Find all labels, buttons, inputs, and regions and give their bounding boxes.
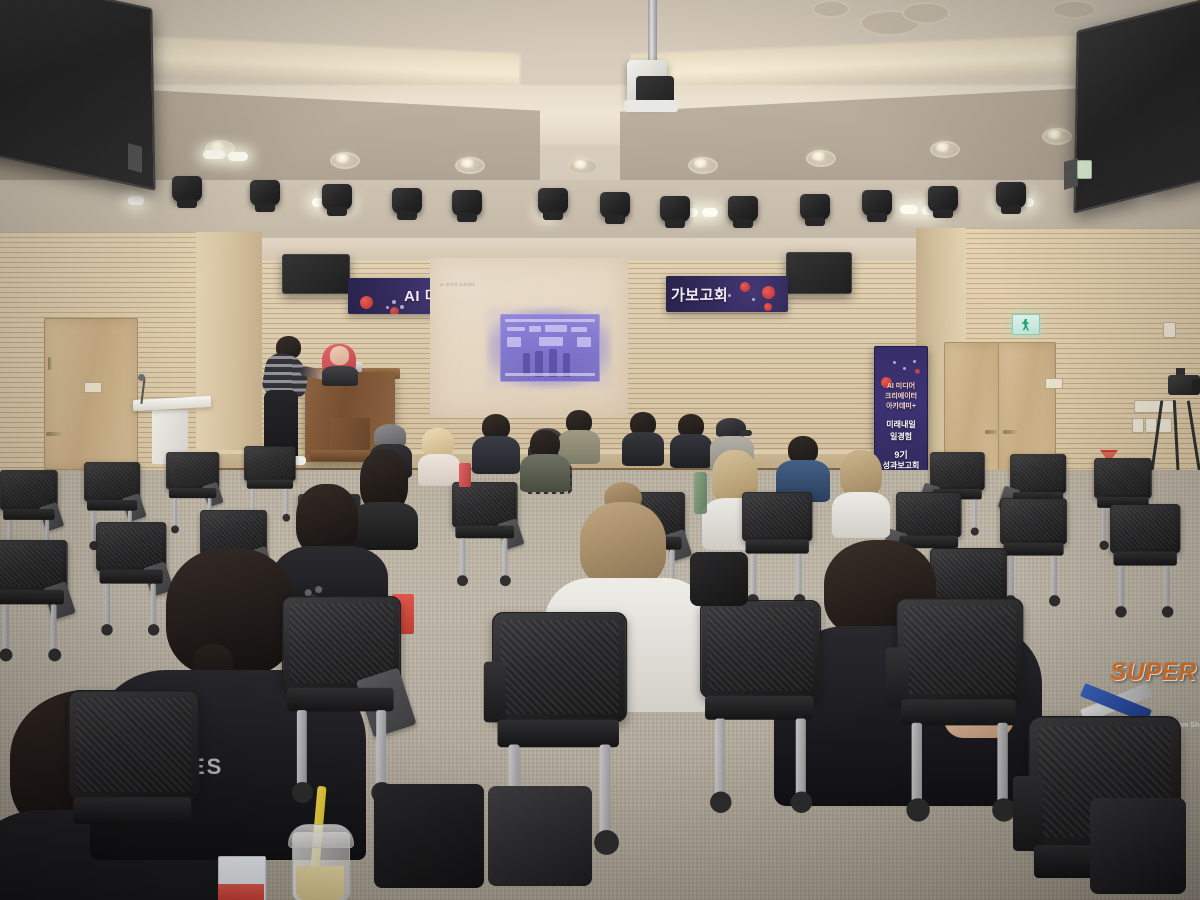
banner-dot <box>386 306 389 309</box>
ceiling-vent <box>812 0 850 18</box>
audience-torso <box>472 436 520 474</box>
rollup-dot <box>893 361 896 364</box>
door-handle-right-a[interactable] <box>985 430 1001 434</box>
audience-hair <box>580 502 666 588</box>
stage-light <box>250 180 280 206</box>
presenter-b-head <box>330 346 349 365</box>
rollup-line-2: 크리에이터 <box>875 391 927 401</box>
door-sign-right <box>1045 378 1063 389</box>
door-sign-left <box>84 382 102 393</box>
shirt-main-text: SUPER <box>1110 658 1196 687</box>
banner-right: 가보고회 <box>666 276 788 312</box>
banner-dot <box>752 298 755 301</box>
left-pillar <box>196 232 262 482</box>
slide-element <box>539 337 563 346</box>
screen-watermark: AI 미디어 아카데미 <box>440 282 475 288</box>
banner-dot <box>764 303 772 311</box>
slot-light <box>128 196 144 205</box>
backpack-floor-left <box>374 784 484 888</box>
stage-light <box>862 190 892 216</box>
cup-lid <box>288 824 354 848</box>
rollup-banner: AI 미디어 크리에이터 아카데미+ 미래내일 일경험 9기 성과보고회 <box>874 346 928 486</box>
door-hinge-left <box>48 357 52 370</box>
ceiling-tv-right <box>1073 0 1200 214</box>
stage-light <box>172 176 202 202</box>
stage-light <box>660 196 690 222</box>
left-door[interactable] <box>44 318 138 470</box>
wall-sensor <box>1163 322 1176 338</box>
audience-torso <box>520 454 570 492</box>
backpack-on-chair <box>690 552 748 606</box>
microphone-head <box>138 374 145 381</box>
slide-figure <box>523 353 530 375</box>
ceiling-vent <box>1052 0 1096 19</box>
downlight <box>573 160 589 169</box>
stage-light <box>322 184 352 210</box>
drink-can <box>459 463 471 487</box>
backpack-floor-right <box>1090 798 1186 894</box>
running-man-icon <box>1022 319 1031 331</box>
conference-hall-photo: AI 미디 가보고회 AI 미디어 크리에이터 아카데미+ 미래내일 일경험 9… <box>0 0 1200 900</box>
slide-element <box>507 337 521 347</box>
cap-brim <box>740 430 752 436</box>
water-bottle <box>694 472 707 514</box>
stage-light <box>392 188 422 214</box>
juice-carton-label <box>218 884 264 900</box>
tv-left-mount <box>128 143 142 172</box>
slide-element <box>529 326 541 332</box>
wall-switch-bank[interactable] <box>1134 400 1174 413</box>
rollup-line-1: AI 미디어 <box>875 381 927 391</box>
beanie-hat <box>374 424 406 446</box>
downlight <box>1047 130 1063 139</box>
slot-light <box>228 152 248 161</box>
audience-torso <box>352 502 418 550</box>
cup-beverage <box>296 866 344 900</box>
downlight <box>811 152 827 161</box>
downlight <box>693 159 709 168</box>
slide-element <box>577 337 591 347</box>
slide-element <box>545 325 567 332</box>
rollup-line-5: 일경험 <box>875 431 927 442</box>
exit-sign <box>1012 314 1040 335</box>
banner-dot <box>390 307 399 314</box>
stage-light <box>728 196 758 222</box>
wall-speaker-right <box>786 252 852 294</box>
banner-right-text: 가보고회 <box>671 284 728 305</box>
downlight <box>935 143 951 152</box>
presenter-b-torso <box>322 366 358 386</box>
slot-light <box>900 205 918 214</box>
audience-torso <box>418 454 460 486</box>
downlight <box>335 154 351 163</box>
banner-dot <box>728 294 731 297</box>
stage-light <box>538 188 568 214</box>
slot-light <box>702 208 718 217</box>
stage-light <box>600 192 630 218</box>
projector-bracket <box>624 100 678 112</box>
wall-outlet-a[interactable] <box>1132 418 1144 433</box>
projected-slide <box>500 314 600 382</box>
ceiling-speaker-grille <box>902 2 950 24</box>
rollup-line-4: 미래내일 <box>875 419 927 430</box>
tv-certification-badge <box>1077 160 1092 179</box>
audience-torso <box>832 492 890 538</box>
banner-dot <box>762 286 775 299</box>
video-camera-lens <box>1192 379 1200 391</box>
stage-light <box>452 190 482 216</box>
stage-light <box>928 186 958 212</box>
slot-light <box>203 150 225 159</box>
door-handle-right-b[interactable] <box>1003 430 1019 434</box>
tv-right-mount <box>1064 158 1078 190</box>
slide-element <box>507 327 525 331</box>
banner-dot <box>392 300 396 304</box>
stage-light <box>800 194 830 220</box>
audience-torso <box>670 434 712 468</box>
rollup-dot <box>915 369 920 374</box>
slide-element <box>505 319 595 322</box>
backpack-floor-center <box>488 786 592 886</box>
downlight <box>460 159 476 168</box>
rollup-line-3: 아카데미+ <box>875 401 927 411</box>
slide-element <box>505 373 595 376</box>
stage-light <box>996 182 1026 208</box>
rollup-dot <box>913 360 916 363</box>
audience-torso <box>622 432 664 466</box>
banner-dot <box>740 282 750 292</box>
door-handle-left[interactable] <box>46 432 62 436</box>
banner-dot <box>360 296 373 309</box>
wall-speaker-left <box>282 254 350 294</box>
rollup-dot <box>903 367 906 370</box>
audience-hair <box>840 450 882 498</box>
slide-element <box>571 327 587 332</box>
